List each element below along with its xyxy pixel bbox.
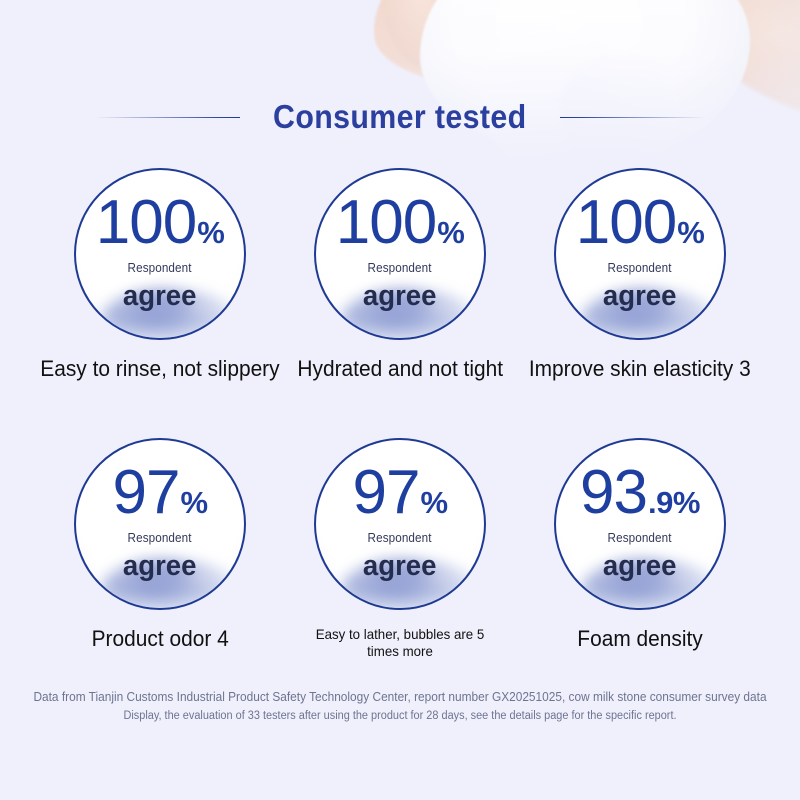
footer-disclaimer: Data from Tianjin Customs Industrial Pro… [20, 688, 780, 726]
badge-cell: 100 % Respondent agree Hydrated and not … [282, 168, 518, 382]
badge-content: 93 .9% Respondent agree [556, 440, 724, 583]
title-rule-right [560, 117, 705, 118]
wave-decoration [84, 312, 244, 340]
badge-grid-row-1: 100 % Respondent agree Easy to rinse, no… [0, 168, 800, 382]
badge-caption: Foam density [577, 626, 702, 652]
respondent-label: Respondent [608, 260, 672, 275]
badge-cell: 93 .9% Respondent agree Foam density [522, 438, 758, 659]
stat-unit: % [677, 219, 704, 248]
stat-value: 100 [576, 194, 676, 251]
badge-content: 97 % Respondent agree [76, 440, 244, 583]
respondent-label: Respondent [368, 260, 432, 275]
agree-label: agree [363, 280, 437, 313]
badge-grid-row-2: 97 % Respondent agree Product odor 4 [0, 438, 800, 659]
stat-badge: 93 .9% Respondent agree [554, 438, 726, 610]
wave-decoration [564, 312, 724, 340]
stat-percentage: 100 % [336, 194, 465, 251]
footer-line-2: Display, the evaluation of 33 testers af… [20, 707, 780, 726]
photo-fade-overlay [0, 0, 800, 180]
agree-label: agree [123, 550, 197, 583]
stat-unit: % [420, 489, 447, 518]
stat-badge: 100 % Respondent agree [314, 168, 486, 340]
badge-cell: 97 % Respondent agree Easy to lather, bu… [282, 438, 518, 659]
agree-label: agree [123, 280, 197, 313]
badge-caption: Easy to rinse, not slippery [40, 356, 279, 382]
wave-decoration [324, 582, 484, 610]
promo-page: Consumer tested 100 % Respondent agree [0, 0, 800, 800]
stat-percentage: 93 .9% [580, 464, 700, 521]
photo-fade-overlay-horizontal [0, 0, 800, 180]
title-rule-left [95, 117, 240, 118]
agree-label: agree [603, 280, 677, 313]
stat-unit: % [180, 489, 207, 518]
badge-cell: 100 % Respondent agree Improve skin elas… [522, 168, 758, 382]
stat-value: 97 [352, 464, 419, 521]
hero-photo-hand-with-foam [0, 0, 800, 180]
badge-caption: Improve skin elasticity 3 [529, 356, 751, 382]
stat-unit: % [437, 219, 464, 248]
badge-caption: Easy to lather, bubbles are 5 times more [305, 626, 495, 659]
finger-shape [374, 0, 475, 77]
stat-percentage: 97 % [352, 464, 447, 521]
footer-line-1: Data from Tianjin Customs Industrial Pro… [20, 688, 780, 707]
stat-percentage: 100 % [576, 194, 705, 251]
stat-value: 93 [580, 464, 647, 521]
stat-unit: .9% [648, 489, 700, 518]
page-title-row: Consumer tested [0, 93, 800, 141]
wave-decoration [84, 582, 244, 610]
respondent-label: Respondent [128, 260, 192, 275]
stat-unit: % [197, 219, 224, 248]
badge-cell: 97 % Respondent agree Product odor 4 [42, 438, 278, 659]
stat-value: 100 [96, 194, 196, 251]
badge-content: 100 % Respondent agree [316, 170, 484, 313]
wave-decoration [564, 582, 724, 610]
page-title: Consumer tested [273, 98, 527, 136]
stat-badge: 100 % Respondent agree [554, 168, 726, 340]
badge-content: 97 % Respondent agree [316, 440, 484, 583]
badge-cell: 100 % Respondent agree Easy to rinse, no… [42, 168, 278, 382]
badge-content: 100 % Respondent agree [556, 170, 724, 313]
badge-caption: Hydrated and not tight [297, 356, 503, 382]
badge-content: 100 % Respondent agree [76, 170, 244, 313]
respondent-label: Respondent [368, 530, 432, 545]
wave-decoration [324, 312, 484, 340]
agree-label: agree [363, 550, 437, 583]
stat-badge: 100 % Respondent agree [74, 168, 246, 340]
respondent-label: Respondent [128, 530, 192, 545]
stat-percentage: 100 % [96, 194, 225, 251]
stat-percentage: 97 % [112, 464, 207, 521]
respondent-label: Respondent [608, 530, 672, 545]
stat-badge: 97 % Respondent agree [314, 438, 486, 610]
stat-value: 100 [336, 194, 436, 251]
stat-badge: 97 % Respondent agree [74, 438, 246, 610]
stat-value: 97 [112, 464, 179, 521]
badge-caption: Product odor 4 [91, 626, 228, 652]
agree-label: agree [603, 550, 677, 583]
